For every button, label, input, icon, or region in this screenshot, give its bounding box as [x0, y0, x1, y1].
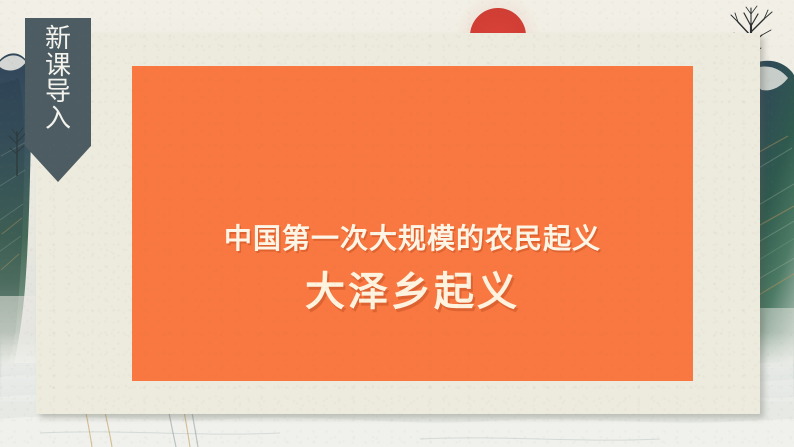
slide-canvas: 中国第一次大规模的农民起义 大泽乡起义 新 课 导 入 — [0, 0, 794, 447]
panel-title: 大泽乡起义 — [305, 269, 520, 315]
highlight-panel: 中国第一次大规模的农民起义 大泽乡起义 — [132, 66, 693, 381]
panel-subtitle: 中国第一次大规模的农民起义 — [224, 224, 601, 255]
